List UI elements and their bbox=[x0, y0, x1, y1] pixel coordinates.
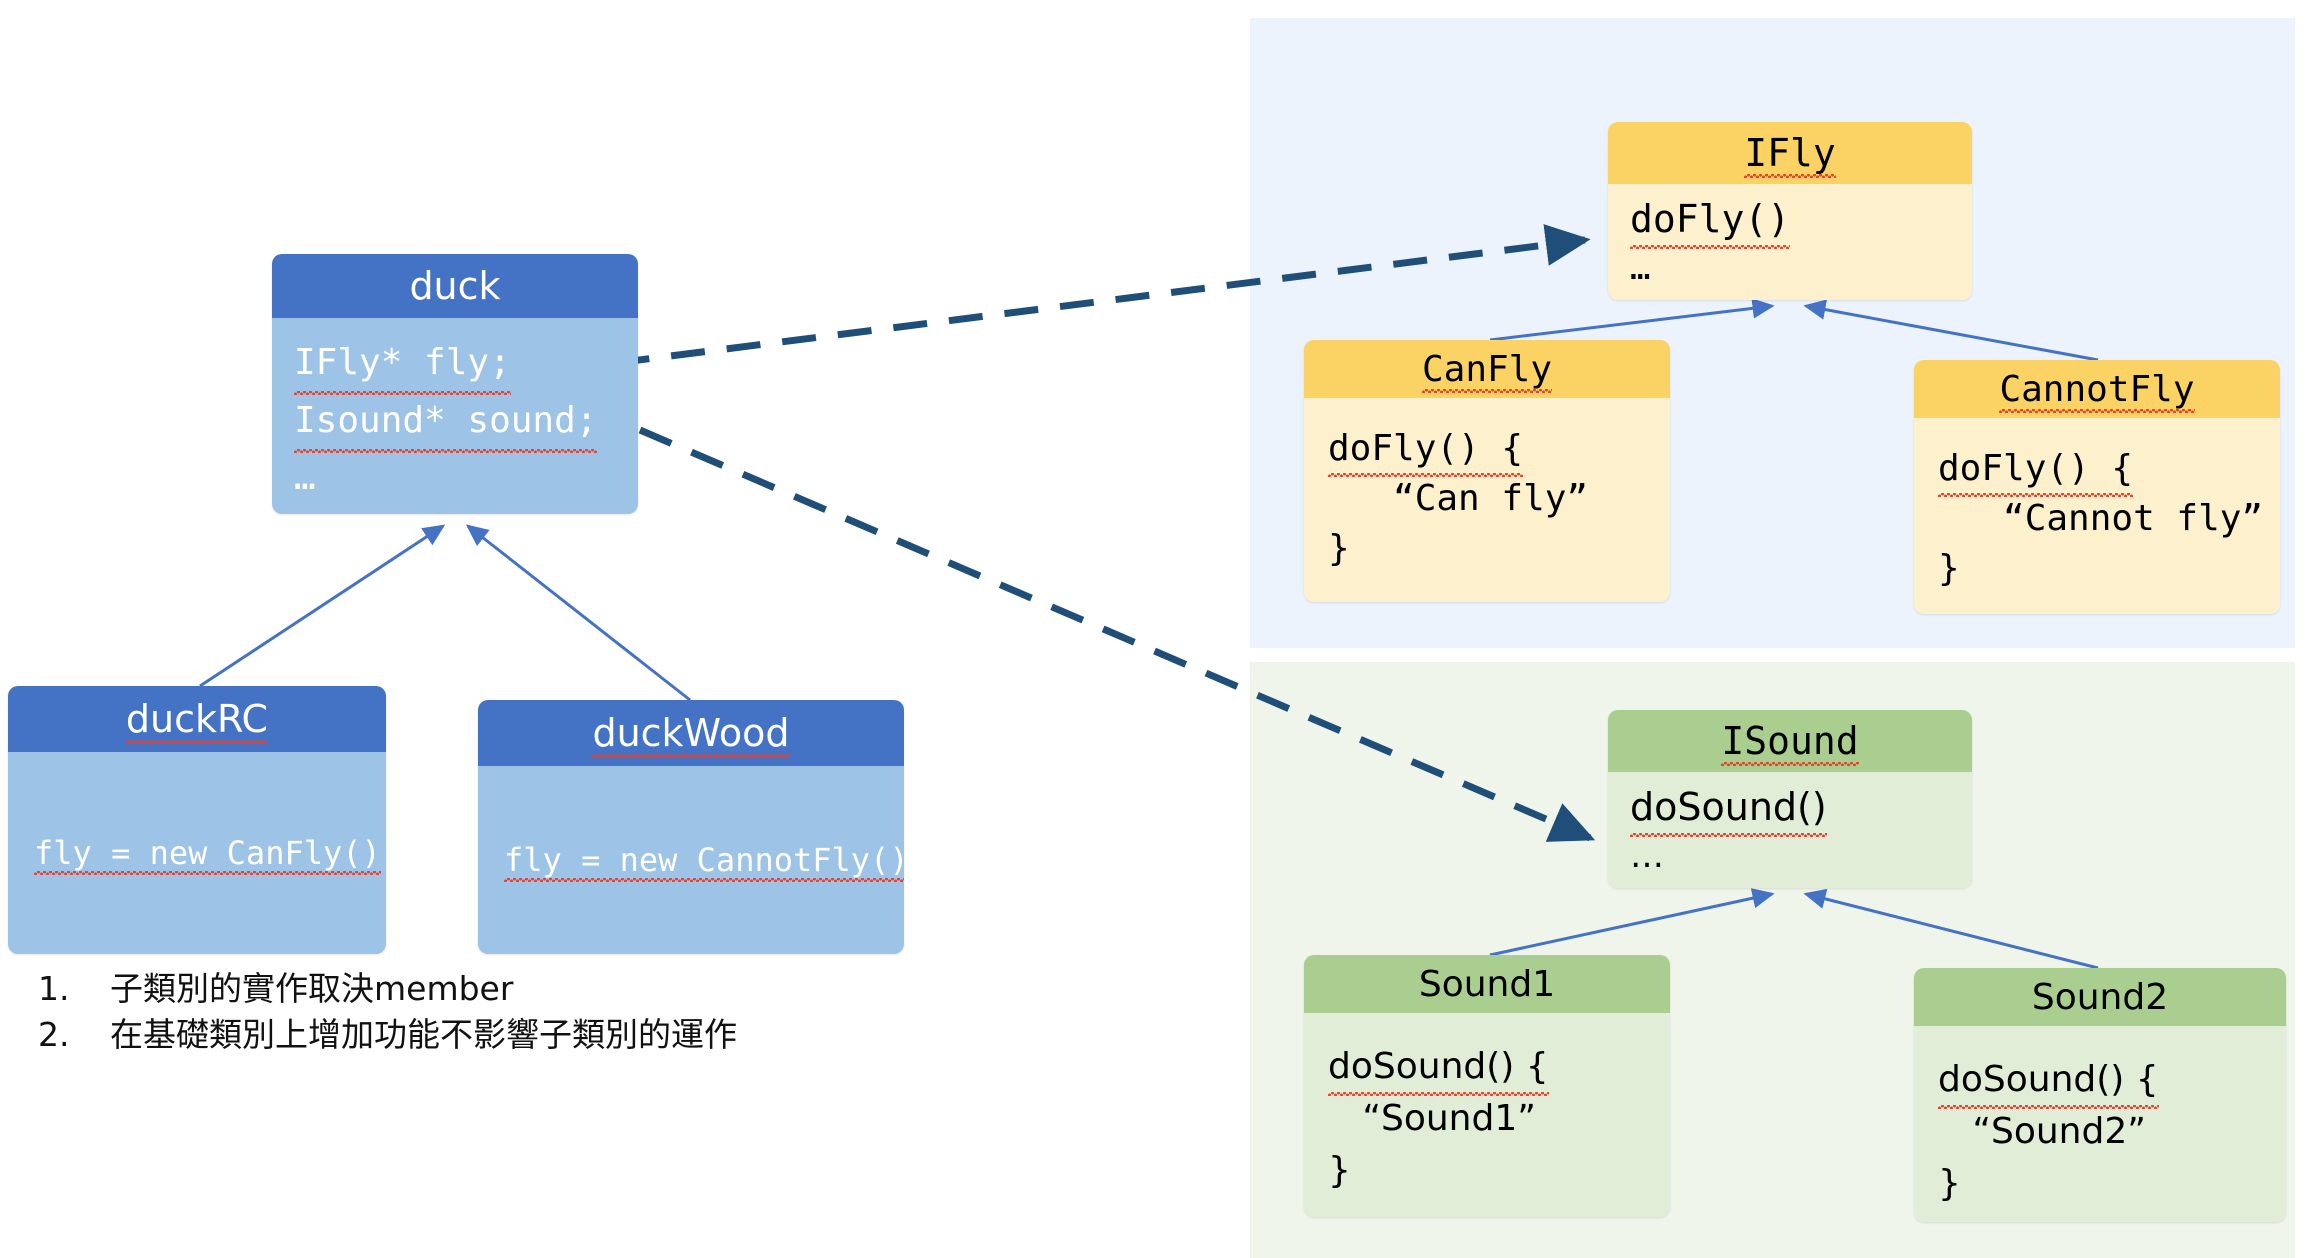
class-box-canfly[interactable]: CanFly doFly() { “Can fly” } bbox=[1304, 340, 1670, 602]
class-title-duckwood: duckWood bbox=[478, 700, 904, 766]
cannotfly-line-signature-text: doFly() { bbox=[1938, 444, 2133, 494]
canfly-line-string: “Can fly” bbox=[1328, 474, 1670, 524]
duck-member-sound: Isound* sound; bbox=[294, 392, 638, 450]
canfly-line-signature-text: doFly() { bbox=[1328, 424, 1523, 474]
duckwood-assignment: fly = new CannotFly() bbox=[504, 841, 904, 879]
note-item-1: 1. 子類別的實作取決member bbox=[38, 966, 938, 1012]
inheritance-duckwood-to-duck bbox=[468, 526, 690, 700]
cannotfly-line-string: “Cannot fly” bbox=[1938, 494, 2280, 544]
class-title-canfly-text: CanFly bbox=[1422, 349, 1552, 390]
sound2-line-string: “Sound2” bbox=[1938, 1106, 2286, 1158]
class-title-canfly: CanFly bbox=[1304, 340, 1670, 398]
canfly-line-signature: doFly() { bbox=[1328, 424, 1670, 474]
duckrc-assignment: fly = new CanFly() bbox=[34, 834, 381, 872]
sound1-line-close: } bbox=[1328, 1145, 1670, 1197]
diagram-canvas: duck IFly* fly; Isound* sound; … duckRC … bbox=[0, 0, 2318, 1258]
ifly-method-text: doFly() bbox=[1630, 192, 1790, 246]
cannotfly-line-close: } bbox=[1938, 544, 2280, 594]
ifly-method: doFly() bbox=[1630, 192, 1972, 246]
duck-member-fly-text: IFly* fly; bbox=[294, 334, 511, 392]
duck-ellipsis: … bbox=[294, 450, 638, 506]
class-title-duck: duck bbox=[272, 254, 638, 318]
duck-member-sound-text: Isound* sound; bbox=[294, 392, 597, 450]
class-title-isound: ISound bbox=[1608, 710, 1972, 772]
inheritance-sound1-to-isound bbox=[1490, 894, 1772, 955]
class-box-sound1[interactable]: Sound1 doSound() { “Sound1” } bbox=[1304, 955, 1670, 1217]
class-box-cannotfly[interactable]: CannotFly doFly() { “Cannot fly” } bbox=[1914, 360, 2280, 614]
sound1-line-string: “Sound1” bbox=[1328, 1093, 1670, 1145]
class-box-isound[interactable]: ISound doSound() … bbox=[1608, 710, 1972, 888]
duckwood-assignment-text: fly = new CannotFly() bbox=[504, 841, 904, 879]
isound-method-text: doSound() bbox=[1630, 780, 1827, 834]
class-body-duck: IFly* fly; Isound* sound; … bbox=[272, 318, 638, 514]
inheritance-canfly-to-ifly bbox=[1490, 306, 1772, 340]
class-body-duckrc: fly = new CanFly() bbox=[8, 752, 386, 954]
inheritance-sound2-to-isound bbox=[1806, 894, 2098, 968]
class-box-duckwood[interactable]: duckWood fly = new CannotFly() bbox=[478, 700, 904, 954]
class-title-sound1: Sound1 bbox=[1304, 955, 1670, 1013]
class-title-duckwood-text: duckWood bbox=[592, 711, 789, 755]
note-item-2: 2. 在基礎類別上增加功能不影響子類別的運作 bbox=[38, 1012, 938, 1058]
class-title-isound-text: ISound bbox=[1721, 719, 1858, 763]
class-title-cannotfly-text: CannotFly bbox=[1999, 369, 2194, 410]
class-body-duckwood: fly = new CannotFly() bbox=[478, 766, 904, 954]
class-box-ifly[interactable]: IFly doFly() … bbox=[1608, 122, 1972, 300]
canfly-line-close: } bbox=[1328, 524, 1670, 574]
class-title-ifly: IFly bbox=[1608, 122, 1972, 184]
class-box-duckrc[interactable]: duckRC fly = new CanFly() bbox=[8, 686, 386, 954]
isound-ellipsis: … bbox=[1630, 834, 1972, 878]
class-box-sound2[interactable]: Sound2 doSound() { “Sound2” } bbox=[1914, 968, 2286, 1222]
class-title-sound2: Sound2 bbox=[1914, 968, 2286, 1026]
class-title-duckrc-text: duckRC bbox=[126, 697, 268, 741]
class-box-duck[interactable]: duck IFly* fly; Isound* sound; … bbox=[272, 254, 638, 514]
duckrc-assignment-text: fly = new CanFly() bbox=[34, 834, 381, 872]
sound2-line-signature-text: doSound() { bbox=[1938, 1054, 2159, 1106]
isound-method: doSound() bbox=[1630, 780, 1972, 834]
sound2-line-signature: doSound() { bbox=[1938, 1054, 2286, 1106]
class-title-ifly-text: IFly bbox=[1744, 131, 1836, 175]
duck-member-fly: IFly* fly; bbox=[294, 334, 638, 392]
sound1-line-signature-text: doSound() { bbox=[1328, 1041, 1549, 1093]
class-title-cannotfly: CannotFly bbox=[1914, 360, 2280, 418]
inheritance-duckrc-to-duck bbox=[200, 526, 443, 686]
sound1-line-signature: doSound() { bbox=[1328, 1041, 1670, 1093]
class-body-sound1: doSound() { “Sound1” } bbox=[1304, 1013, 1670, 1217]
note-text-1: 子類別的實作取決member bbox=[110, 966, 938, 1012]
sound2-line-close: } bbox=[1938, 1158, 2286, 1210]
cannotfly-line-signature: doFly() { bbox=[1938, 444, 2280, 494]
ifly-ellipsis: … bbox=[1630, 246, 1972, 290]
class-body-cannotfly: doFly() { “Cannot fly” } bbox=[1914, 418, 2280, 614]
note-number-2: 2. bbox=[38, 1012, 110, 1058]
class-body-ifly: doFly() … bbox=[1608, 184, 1972, 300]
note-text-2: 在基礎類別上增加功能不影響子類別的運作 bbox=[110, 1012, 938, 1058]
class-title-duckrc: duckRC bbox=[8, 686, 386, 752]
notes-list: 1. 子類別的實作取決member 2. 在基礎類別上增加功能不影響子類別的運作 bbox=[38, 966, 938, 1058]
class-body-canfly: doFly() { “Can fly” } bbox=[1304, 398, 1670, 602]
note-number-1: 1. bbox=[38, 966, 110, 1012]
class-body-sound2: doSound() { “Sound2” } bbox=[1914, 1026, 2286, 1222]
class-body-isound: doSound() … bbox=[1608, 772, 1972, 888]
inheritance-cannotfly-to-ifly bbox=[1806, 306, 2098, 360]
